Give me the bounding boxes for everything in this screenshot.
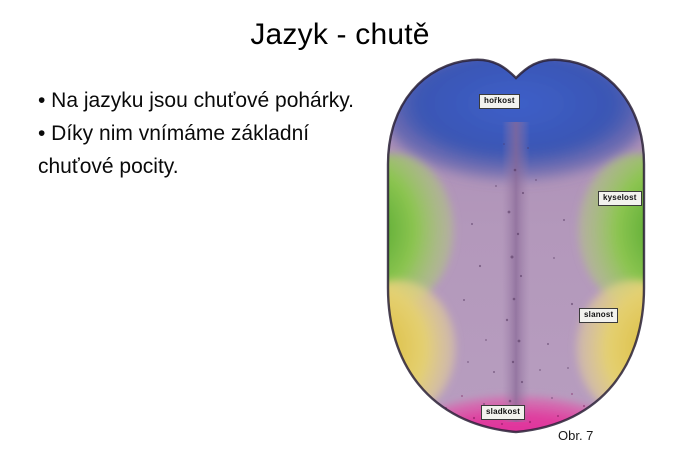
zone-label-sweet: sladkost	[481, 405, 525, 420]
zone-label-salty: slanost	[579, 308, 618, 323]
figure-caption: Obr. 7	[558, 428, 593, 443]
list-item: • Na jazyku jsou chuťové pohárky.	[38, 84, 358, 117]
bullet-list: • Na jazyku jsou chuťové pohárky. • Díky…	[38, 84, 358, 183]
tongue-diagram-svg	[376, 52, 656, 450]
tongue-midline	[502, 122, 530, 422]
tongue-figure: hořkost kyselost slanost sladkost	[376, 52, 656, 450]
list-item: • Díky nim vnímáme základní chuťové poci…	[38, 117, 358, 183]
zone-label-bitter: hořkost	[479, 94, 520, 109]
tongue-body	[376, 52, 656, 450]
page-title: Jazyk - chutě	[0, 18, 680, 52]
zone-label-sour: kyselost	[598, 191, 642, 206]
slide-canvas: Jazyk - chutě • Na jazyku jsou chuťové p…	[0, 0, 680, 450]
